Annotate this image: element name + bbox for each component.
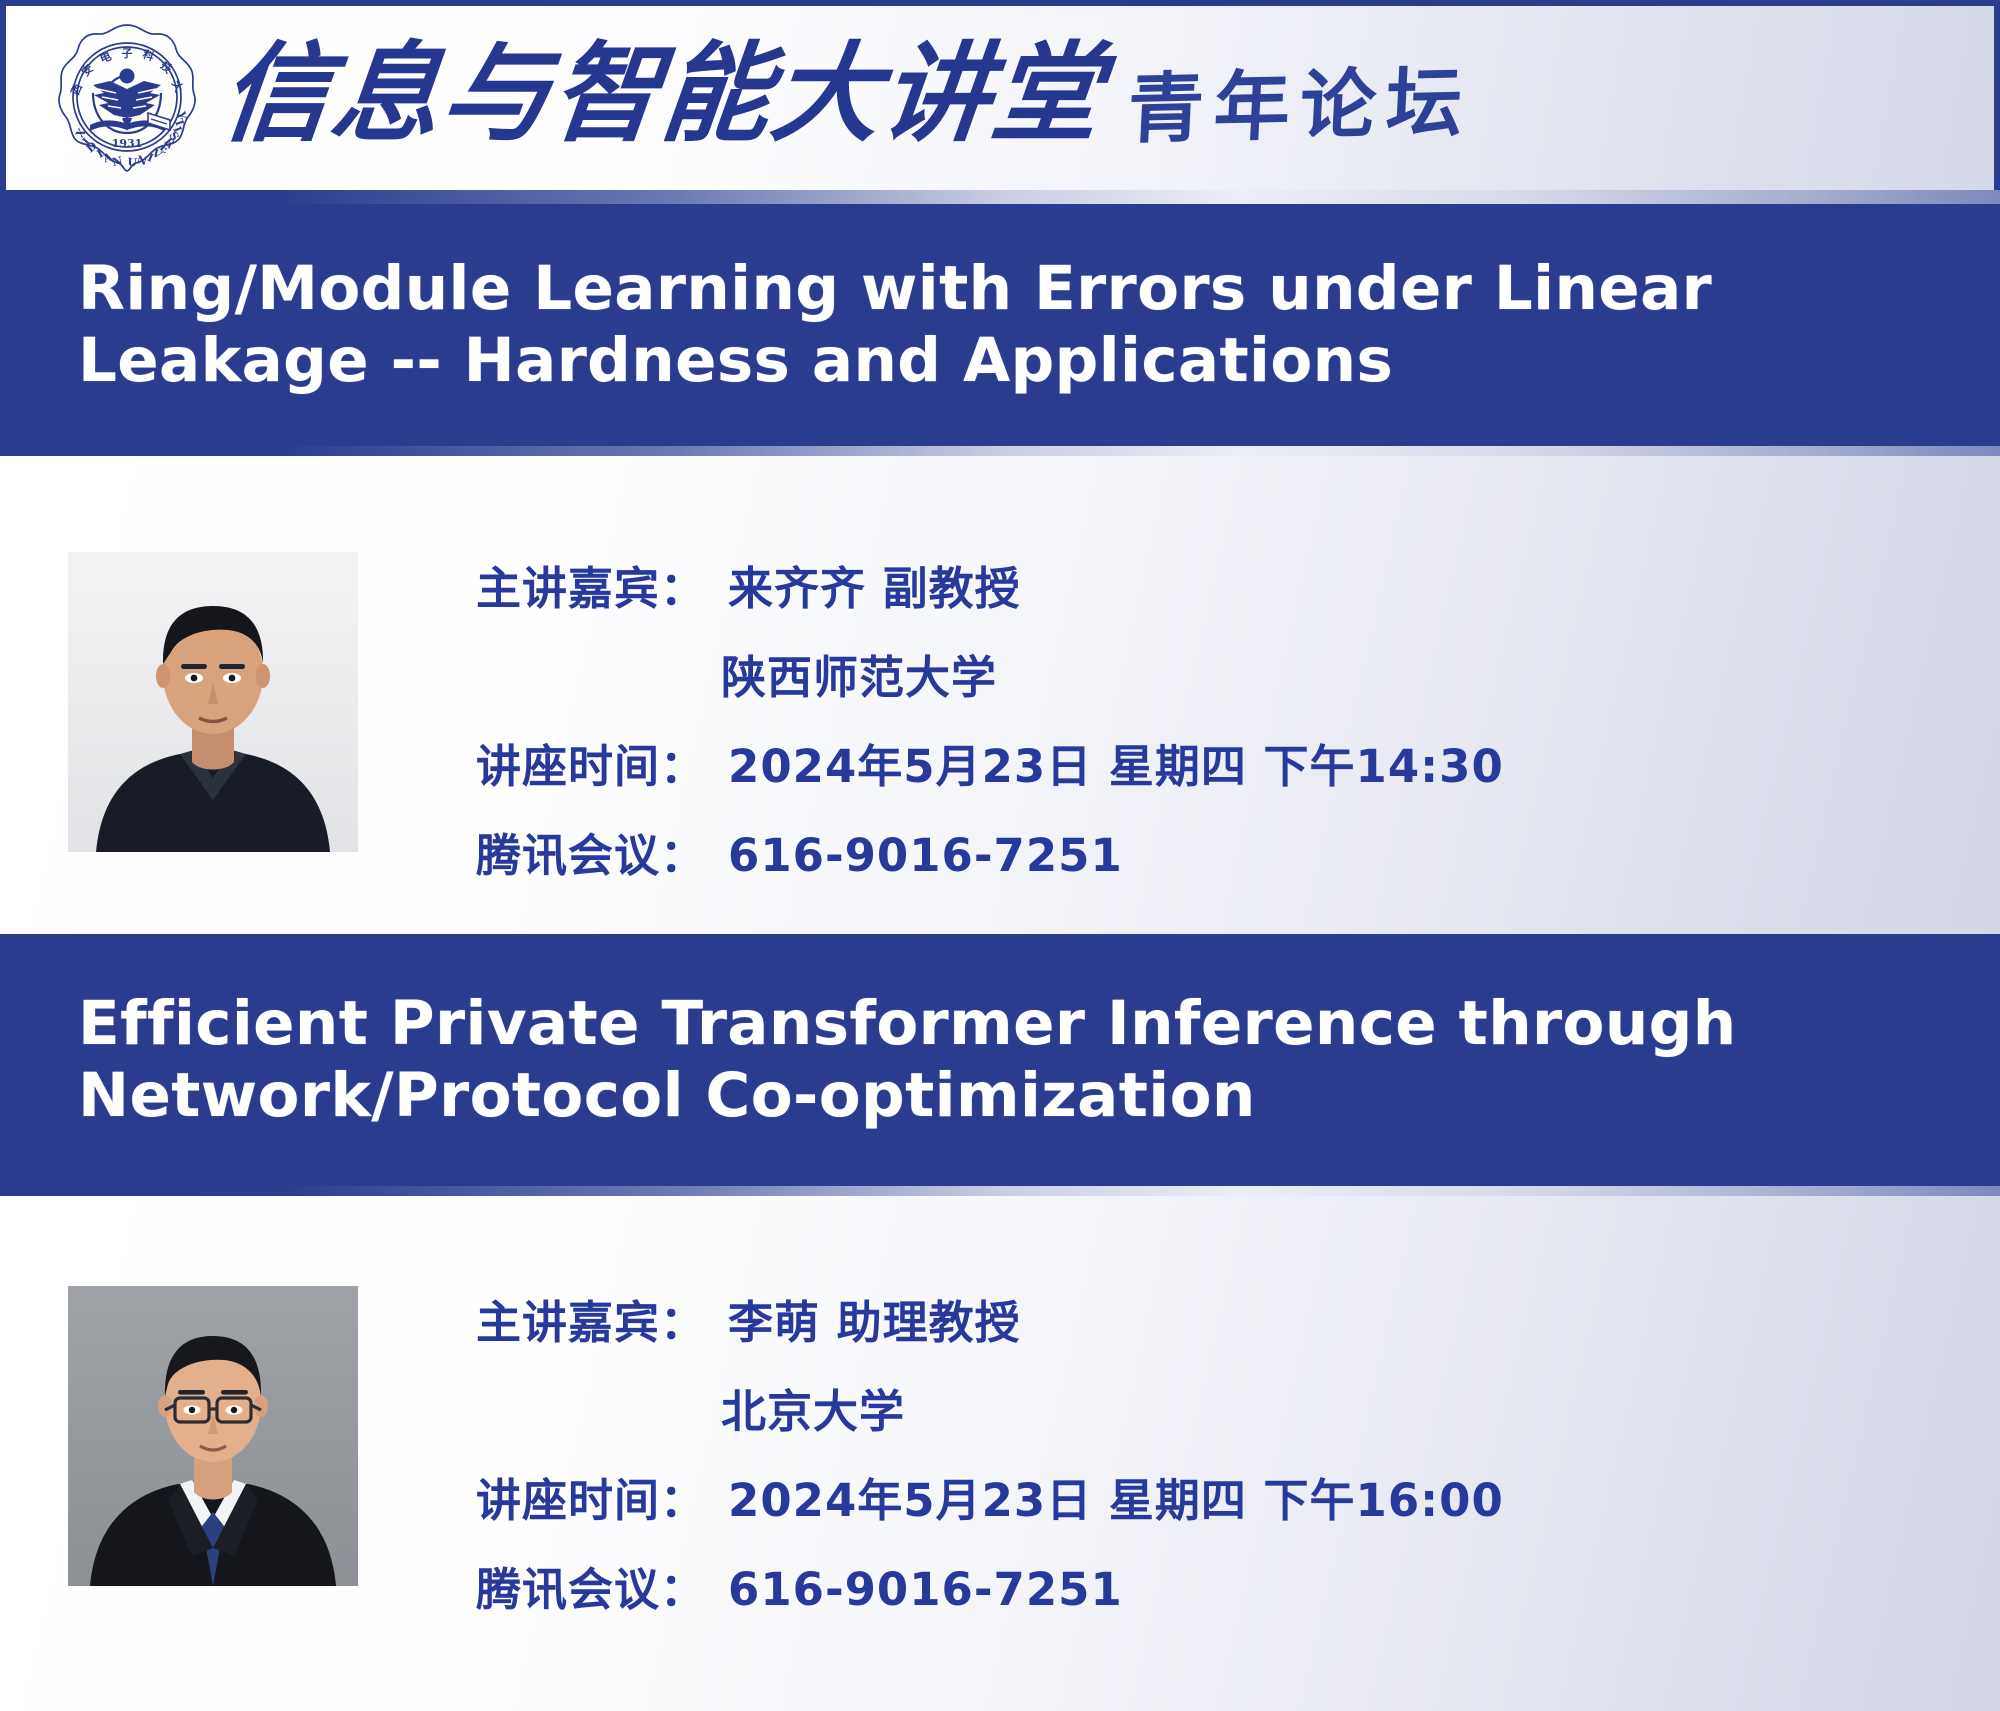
detail-value: 616-9016-7251	[728, 1567, 1123, 1612]
lecture-poster: 子 电 安 西 科 技 大 1931 X I D I	[0, 0, 2000, 1711]
speaker-photo-wrap-1	[68, 552, 358, 852]
lecture-info-panel-1: 主讲嘉宾： 来齐齐 副教授 陕西师范大学 讲座时间： 2024年5月23日 星期…	[0, 456, 2000, 934]
poster-header: 子 电 安 西 科 技 大 1931 X I D I	[0, 0, 2000, 190]
lecture-title-bar-2: Efficient Private Transformer Inference …	[0, 934, 2000, 1186]
detail-value: 616-9016-7251	[728, 833, 1123, 878]
detail-row-speaker: 主讲嘉宾： 来齐齐 副教授	[476, 566, 2000, 611]
speaker-photo-li-meng	[68, 1286, 358, 1586]
page-title: 信息与智能大讲堂	[216, 41, 1107, 149]
lecture-title-2: Efficient Private Transformer Inference …	[0, 988, 2000, 1132]
detail-label: 腾讯会议：	[476, 1567, 706, 1612]
detail-row-datetime: 讲座时间： 2024年5月23日 星期四 下午16:00	[476, 1478, 2000, 1523]
svg-text:电: 电	[98, 49, 113, 66]
detail-value: 2024年5月23日 星期四 下午16:00	[728, 1478, 1504, 1523]
divider-gradient-3	[0, 1186, 2000, 1196]
detail-row-affiliation: 陕西师范大学	[476, 655, 2000, 700]
detail-label: 腾讯会议：	[476, 833, 706, 878]
divider-gradient-2	[0, 446, 2000, 456]
detail-row-affiliation: 北京大学	[476, 1389, 2000, 1434]
detail-row-speaker: 主讲嘉宾： 李萌 助理教授	[476, 1300, 2000, 1345]
detail-value: 2024年5月23日 星期四 下午14:30	[728, 744, 1504, 789]
header-band: 子 电 安 西 科 技 大 1931 X I D I	[6, 6, 1994, 190]
detail-row-meeting-id: 腾讯会议： 616-9016-7251	[476, 1567, 2000, 1612]
detail-value: 陕西师范大学	[721, 655, 997, 700]
detail-label: 主讲嘉宾：	[476, 1300, 706, 1345]
lecture-details-2: 主讲嘉宾： 李萌 助理教授 北京大学 讲座时间： 2024年5月23日 星期四 …	[358, 1286, 2000, 1612]
lecture-title-bar-1: Ring/Module Learning with Errors under L…	[0, 204, 2000, 446]
speaker-photo-wrap-2	[68, 1286, 358, 1586]
xidian-university-seal-icon: 子 电 安 西 科 技 大 1931 X I D I	[52, 19, 202, 177]
detail-label: 主讲嘉宾：	[476, 566, 706, 611]
speaker-photo-lai-qiqi	[68, 552, 358, 852]
detail-value: 来齐齐 副教授	[728, 566, 1021, 611]
svg-text:子: 子	[122, 47, 133, 60]
svg-text:大: 大	[169, 78, 186, 94]
svg-text:N: N	[111, 154, 124, 169]
detail-row-meeting-id: 腾讯会议： 616-9016-7251	[476, 833, 2000, 878]
detail-value: 北京大学	[721, 1389, 905, 1434]
divider-gradient-1	[0, 190, 2000, 204]
detail-label: 讲座时间：	[476, 1478, 706, 1523]
page-subtitle: 青年论坛	[1126, 64, 1474, 147]
detail-row-datetime: 讲座时间： 2024年5月23日 星期四 下午14:30	[476, 744, 2000, 789]
logo-year-text: 1931	[112, 137, 143, 150]
svg-text:西: 西	[69, 82, 85, 97]
lecture-title-1: Ring/Module Learning with Errors under L…	[0, 253, 2000, 397]
lecture-details-1: 主讲嘉宾： 来齐齐 副教授 陕西师范大学 讲座时间： 2024年5月23日 星期…	[358, 552, 2000, 878]
detail-label: 讲座时间：	[476, 744, 706, 789]
lecture-info-panel-2: 主讲嘉宾： 李萌 助理教授 北京大学 讲座时间： 2024年5月23日 星期四 …	[0, 1196, 2000, 1711]
detail-value: 李萌 助理教授	[728, 1300, 1021, 1345]
